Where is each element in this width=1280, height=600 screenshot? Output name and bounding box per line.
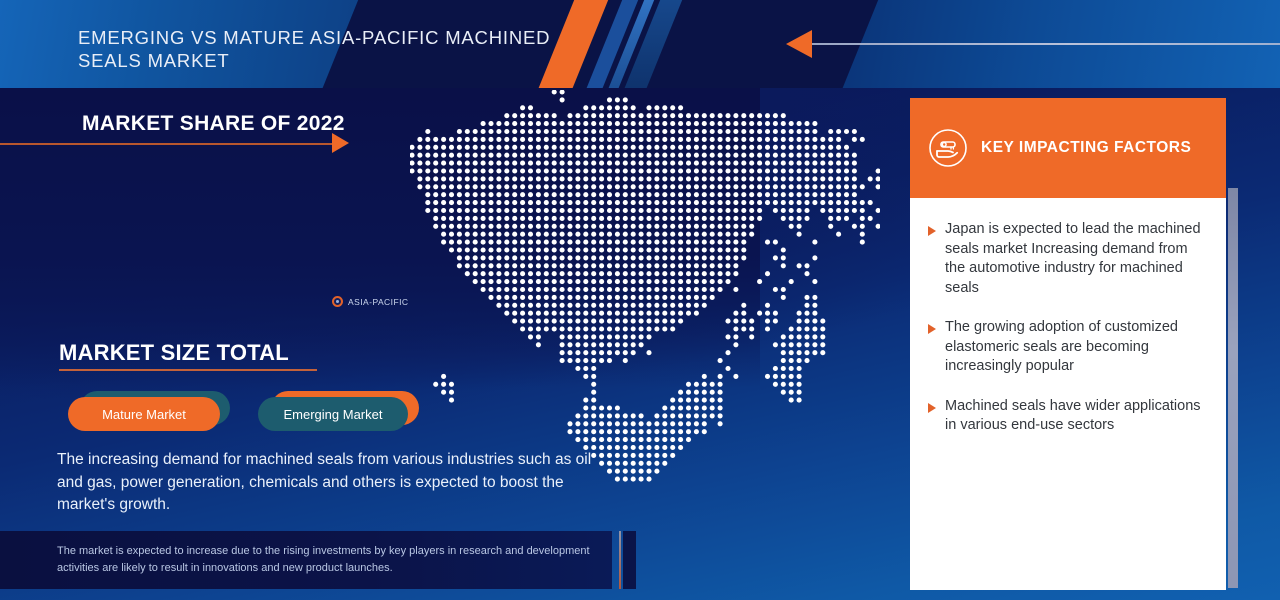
footer-text: The market is expected to increase due t… <box>57 543 602 576</box>
header-arrow-line <box>812 43 1280 45</box>
pill-mature-market[interactable]: Mature Market <box>68 397 220 431</box>
footer-accent-block <box>623 531 636 589</box>
infographic-root: EMERGING VS MATURE ASIA-PACIFIC MACHINED… <box>0 0 1280 600</box>
page-title: EMERGING VS MATURE ASIA-PACIFIC MACHINED… <box>78 26 598 72</box>
left-triangle-arrow-icon <box>786 30 812 58</box>
pill-emerging-market[interactable]: Emerging Market <box>258 397 408 431</box>
market-size-total-label: MARKET SIZE TOTAL <box>59 340 289 366</box>
bullet-triangle-icon <box>928 226 936 236</box>
hand-holding-key-icon <box>928 128 968 168</box>
market-size-description: The increasing demand for machined seals… <box>57 449 602 517</box>
list-item-text: Machined seals have wider applications i… <box>945 397 1210 436</box>
circle-target-icon <box>332 296 343 307</box>
right-triangle-arrow-icon <box>332 133 349 153</box>
key-factors-panel: KEY IMPACTING FACTORS Japan is expected … <box>910 98 1226 590</box>
market-share-label: MARKET SHARE OF 2022 <box>82 112 345 136</box>
key-factors-title: KEY IMPACTING FACTORS <box>981 139 1191 157</box>
list-item: The growing adoption of customized elast… <box>928 318 1210 377</box>
asia-pacific-marker: ASIA-PACIFIC <box>332 296 409 307</box>
bullet-triangle-icon <box>928 403 936 413</box>
key-factors-header: KEY IMPACTING FACTORS <box>910 98 1226 198</box>
asia-pacific-dot-map <box>410 90 880 500</box>
header-band: EMERGING VS MATURE ASIA-PACIFIC MACHINED… <box>0 0 1280 88</box>
list-item-text: Japan is expected to lead the machined s… <box>945 220 1210 298</box>
list-item: Japan is expected to lead the machined s… <box>928 220 1210 298</box>
list-item-text: The growing adoption of customized elast… <box>945 318 1210 377</box>
asia-pacific-label: ASIA-PACIFIC <box>348 297 409 307</box>
market-share-rule <box>0 143 338 145</box>
list-item: Machined seals have wider applications i… <box>928 397 1210 436</box>
key-factors-panel-shadow <box>1228 188 1238 588</box>
key-factors-list: Japan is expected to lead the machined s… <box>910 198 1226 456</box>
market-size-total-rule <box>59 369 317 371</box>
footer-accent-line <box>619 531 621 589</box>
bullet-triangle-icon <box>928 324 936 334</box>
